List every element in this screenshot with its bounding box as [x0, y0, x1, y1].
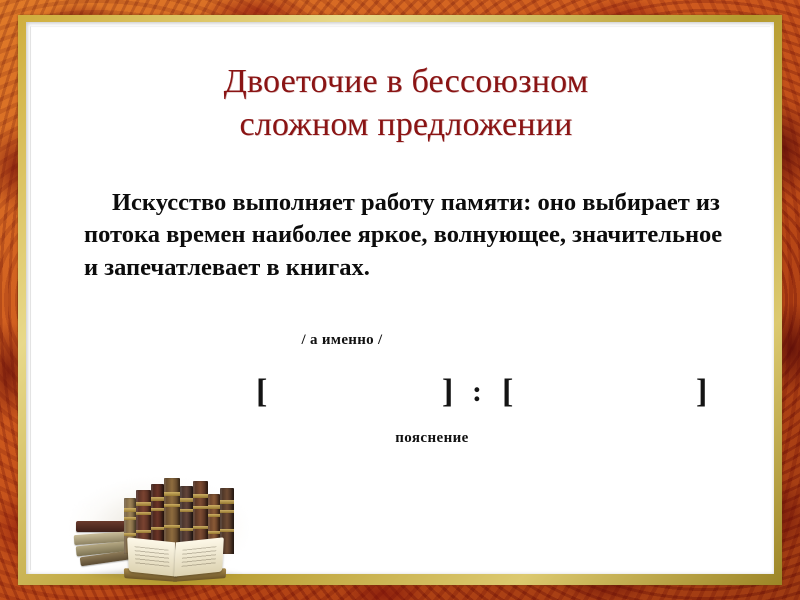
title-line-1: Двоеточие в бессоюзном	[96, 61, 716, 104]
example-sentence: Искусство выполняет работу памяти: оно в…	[84, 187, 724, 285]
close-bracket-clause-1: ]	[442, 372, 453, 412]
open-bracket-clause-2: [	[502, 372, 513, 412]
sentence-scheme: / а именно / [ ] : [ ] пояснение	[52, 328, 800, 468]
slide-content-panel: Двоеточие в бессоюзном сложном предложен…	[26, 22, 774, 574]
antique-books-image	[62, 470, 262, 588]
relation-label: пояснение	[307, 430, 557, 447]
conjunction-note: / а именно /	[52, 332, 632, 349]
title-line-2: сложном предложении	[96, 104, 716, 147]
open-book-page-right	[174, 537, 224, 576]
slide-title: Двоеточие в бессоюзном сложном предложен…	[96, 61, 716, 147]
close-bracket-clause-2: ]	[696, 372, 707, 412]
open-bracket-clause-1: [	[256, 372, 267, 412]
presentation-slide: Двоеточие в бессоюзном сложном предложен…	[0, 0, 800, 600]
open-book-page-left	[127, 537, 177, 576]
scheme-bracket-row: [ ] : [ ]	[52, 372, 800, 414]
colon-punctuation-mark: :	[472, 372, 482, 412]
